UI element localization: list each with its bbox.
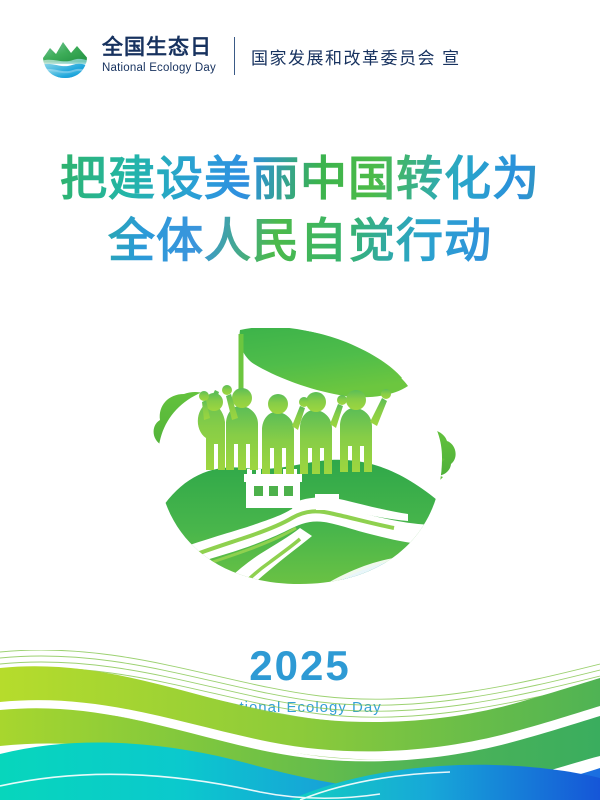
- headline-line-2: 全体人民自觉行动: [0, 210, 600, 272]
- poster-canvas: 全国生态日 National Ecology Day 国家发展和改革委员会 宣 …: [0, 0, 600, 800]
- ecology-scene-illustration: [140, 328, 460, 618]
- brand-name-en: National Ecology Day: [102, 63, 216, 75]
- organization-label: 国家发展和改革委员会 宣: [251, 44, 461, 69]
- brand-header: 全国生态日 National Ecology Day 国家发展和改革委员会 宣: [40, 30, 461, 82]
- header-divider: [234, 37, 235, 75]
- ecology-day-logo-icon: [40, 31, 90, 81]
- bottom-wave-decoration: [0, 650, 600, 800]
- headline-line-1: 把建设美丽中国转化为: [0, 148, 600, 210]
- brand-name-block: 全国生态日 National Ecology Day: [102, 37, 216, 75]
- brand-name-cn: 全国生态日: [102, 37, 216, 58]
- page-title: 把建设美丽中国转化为 全体人民自觉行动: [0, 148, 600, 272]
